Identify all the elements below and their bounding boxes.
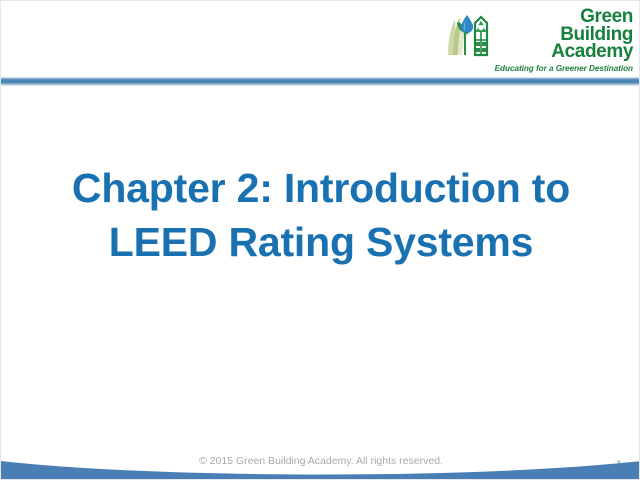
slide-title-line-1: Chapter 2: Introduction to xyxy=(35,161,607,215)
brand-logo-tagline: Educating for a Greener Destination xyxy=(495,64,633,74)
brand-logo-line-3: Academy xyxy=(551,43,633,61)
slide-title: Chapter 2: Introduction to LEED Rating S… xyxy=(35,161,607,269)
bottom-curve-decoration xyxy=(1,453,640,479)
slide-title-line-2: LEED Rating Systems xyxy=(35,215,607,269)
presentation-slide: Green Building Academy Educating for a G… xyxy=(0,0,640,480)
slide-header: Green Building Academy Educating for a G… xyxy=(1,1,640,77)
brand-logo-wordmark: Green Building Academy Educating for a G… xyxy=(495,8,633,74)
brand-logo-line-1: Green xyxy=(580,8,633,26)
green-building-academy-logo-icon xyxy=(445,9,491,57)
header-divider-bar xyxy=(1,77,640,86)
brand-logo: Green Building Academy Educating for a G… xyxy=(445,8,633,74)
